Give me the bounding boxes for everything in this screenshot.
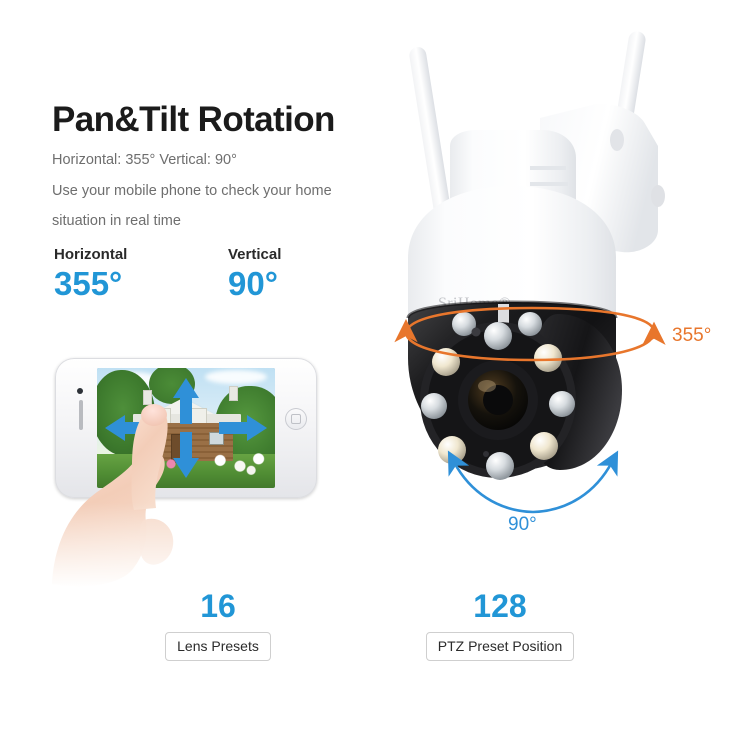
page-title: Pan&Tilt Rotation <box>52 100 335 140</box>
metric-ptz-presets-number: 128 <box>405 590 595 624</box>
metric-ptz-presets-label: PTZ Preset Position <box>426 632 575 661</box>
spec-vertical: Vertical 90° <box>228 246 281 300</box>
lens-highlight <box>478 380 496 392</box>
subtitle-line-2: situation in real time <box>52 213 181 229</box>
spec-horizontal-label: Horizontal <box>54 246 127 263</box>
tilt-arc-right <box>533 462 612 512</box>
subtitle-specs: Horizontal: 355° Vertical: 90° <box>52 152 237 168</box>
bracket-screw-hole <box>610 129 624 151</box>
pan-rotation-indicator <box>392 300 692 370</box>
spec-vertical-label: Vertical <box>228 246 281 263</box>
spec-horizontal: Horizontal 355° <box>54 246 127 300</box>
poster-canvas: Pan&Tilt Rotation Horizontal: 355° Verti… <box>0 0 750 750</box>
metric-ptz-presets: 128 PTZ Preset Position <box>405 590 595 661</box>
spec-horizontal-value: 355° <box>54 267 127 300</box>
metric-lens-presets-label: Lens Presets <box>165 632 271 661</box>
phone-front-camera-icon <box>77 388 83 394</box>
metric-lens-presets-number: 16 <box>123 590 313 624</box>
led-lamp <box>421 393 447 419</box>
spec-vertical-value: 90° <box>228 267 281 300</box>
pan-ellipse-back <box>406 308 654 334</box>
led-lamp <box>549 391 575 417</box>
bracket-screw-hole <box>651 185 665 207</box>
hand-illustration <box>48 398 238 588</box>
tilt-angle-label: 90° <box>508 514 537 536</box>
tilt-arc-left <box>454 462 533 512</box>
subtitle-line-1: Use your mobile phone to check your home <box>52 183 332 199</box>
pan-angle-label: 355° <box>672 325 711 347</box>
phone-home-button[interactable] <box>285 408 307 430</box>
pan-ellipse-front <box>406 332 654 360</box>
metric-lens-presets: 16 Lens Presets <box>123 590 313 661</box>
